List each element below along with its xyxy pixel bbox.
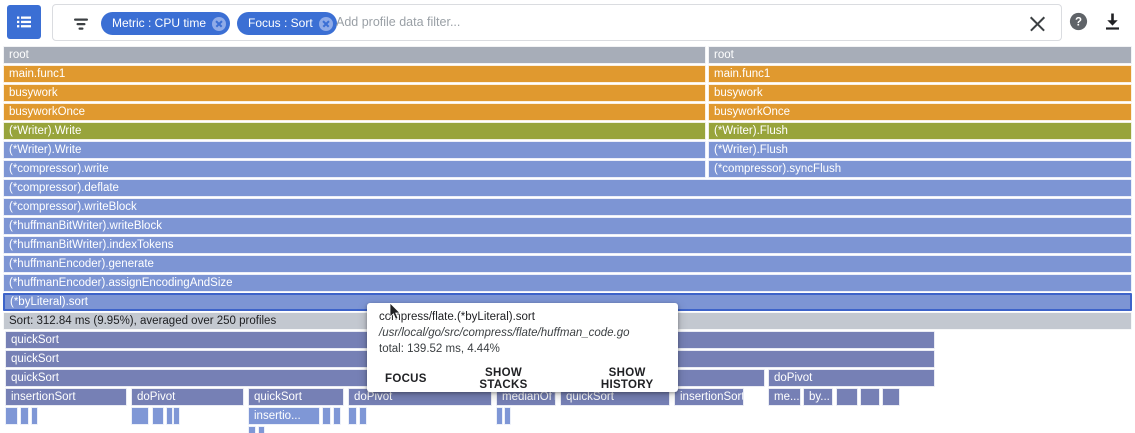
flame-frame[interactable]: main.func1 [3,65,706,83]
profile-flamegraph-app: Metric : CPU time Focus : Sort Add profi… [0,0,1135,433]
chip-close-icon[interactable] [319,17,333,31]
flame-frame[interactable] [496,407,503,425]
tune-icon[interactable] [71,14,91,34]
tooltip-actions: FOCUS SHOW STACKS SHOW HISTORY [367,365,678,392]
filter-chip-metric-label: Metric : CPU time [112,12,206,35]
flame-frame[interactable]: main.func1 [708,65,1132,83]
flame-frame[interactable]: insertio... [248,407,320,425]
flame-frame[interactable]: busyworkOnce [708,103,1132,121]
flame-frame[interactable] [166,407,173,425]
flame-frame[interactable]: (*Writer).Write [3,141,706,159]
flame-frame[interactable]: (*compressor).writeBlock [3,198,1132,216]
flame-frame[interactable]: busyworkOnce [3,103,706,121]
show-history-button[interactable]: SHOW HISTORY [576,366,678,392]
flame-frame[interactable]: busywork [3,84,706,102]
filter-bar: Metric : CPU time Focus : Sort Add profi… [52,4,1062,41]
flame-frame[interactable] [173,407,180,425]
flame-frame[interactable]: doPivot [768,369,935,387]
flame-frame[interactable]: (*compressor).deflate [3,179,1132,197]
menu-button[interactable] [7,5,41,39]
flame-frame[interactable] [248,426,256,433]
mouse-cursor [389,303,402,326]
flame-frame[interactable]: (*huffmanEncoder).assignEncodingAndSize [3,274,1132,292]
tooltip-function: compress/flate.(*byLiteral).sort [379,311,535,323]
chip-close-icon[interactable] [212,17,226,31]
flame-frame[interactable]: doPivot [131,388,244,406]
show-stacks-button[interactable]: SHOW STACKS [455,366,553,392]
flame-frame[interactable] [860,388,880,406]
flame-frame[interactable]: (*Writer).Flush [708,122,1132,140]
filter-input[interactable]: Add profile data filter... [336,5,460,40]
tooltip-total: total: 139.52 ms, 4.44% [379,343,500,355]
flame-frame[interactable] [359,407,367,425]
flame-frame[interactable]: (*compressor).write [3,160,706,178]
flame-frame[interactable]: (*huffmanBitWriter).indexTokens [3,236,1132,254]
flame-frame[interactable]: (*compressor).syncFlush [708,160,1132,178]
frame-tooltip: compress/flate.(*byLiteral).sort /usr/lo… [367,303,678,392]
filter-chip-focus-label: Focus : Sort [248,12,313,35]
flame-frame[interactable] [20,407,29,425]
flame-frame[interactable]: (*huffmanEncoder).generate [3,255,1132,273]
flame-frame[interactable] [333,407,341,425]
download-icon[interactable] [1103,12,1122,36]
flame-frame[interactable]: quickSort [248,388,344,406]
flame-frame[interactable] [258,426,265,433]
help-icon[interactable]: ? [1069,12,1088,36]
flame-frame[interactable] [322,407,331,425]
flame-frame[interactable] [131,407,149,425]
flame-frame[interactable] [504,407,511,425]
svg-text:?: ? [1075,17,1082,29]
flame-frame[interactable] [836,388,858,406]
flame-frame[interactable]: (*huffmanBitWriter).writeBlock [3,217,1132,235]
flame-frame[interactable]: insertionSort [5,388,127,406]
flame-frame[interactable]: root [3,46,706,64]
flame-frame[interactable]: insertionSort [674,388,744,406]
flame-frame[interactable] [5,407,18,425]
flame-frame[interactable]: me... [768,388,801,406]
flame-frame[interactable] [31,407,38,425]
focus-button[interactable]: FOCUS [379,372,433,386]
flame-frame[interactable] [882,388,900,406]
flame-frame[interactable]: by... [803,388,833,406]
filter-chip-metric[interactable]: Metric : CPU time [101,12,230,35]
close-icon[interactable] [1028,14,1047,33]
flame-frame[interactable]: (*Writer).Flush [708,141,1132,159]
flame-frame[interactable]: root [708,46,1132,64]
tooltip-path: /usr/local/go/src/compress/flate/huffman… [379,327,630,339]
flame-frame[interactable]: busywork [708,84,1132,102]
flame-frame[interactable] [152,407,164,425]
flame-frame[interactable]: (*Writer).Write [3,122,706,140]
toolbar: Metric : CPU time Focus : Sort Add profi… [0,0,1135,45]
flame-frame[interactable] [348,407,357,425]
filter-chip-focus[interactable]: Focus : Sort [237,12,337,35]
list-icon [14,12,34,32]
